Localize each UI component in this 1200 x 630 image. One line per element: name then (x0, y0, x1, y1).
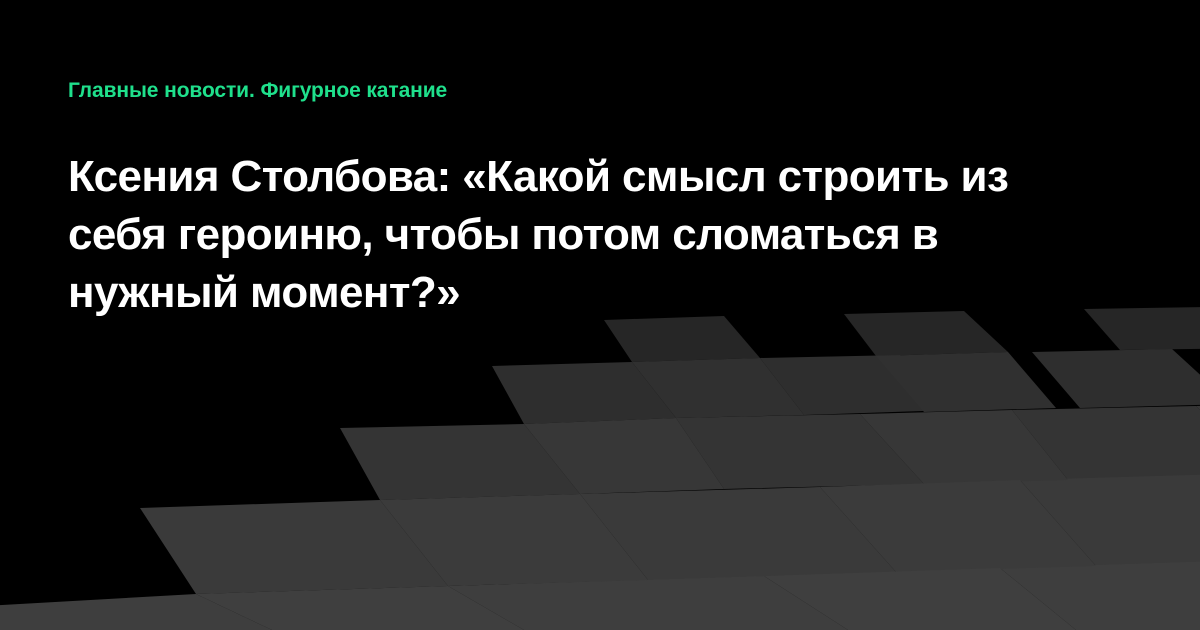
tile-row-interlock (215, 396, 1100, 630)
card-content: Главные новости. Фигурное катание Ксения… (68, 0, 1128, 322)
tile-row-near (0, 532, 1200, 630)
perspective-checkerboard-floor (0, 300, 1200, 630)
tile-row-2 (510, 342, 1200, 410)
tile-gaps (0, 300, 1200, 552)
checkerboard-grid (0, 300, 1200, 630)
tile-row-3 (355, 392, 1200, 476)
news-share-card: Главные новости. Фигурное катание Ксения… (0, 0, 1200, 630)
kicker-rubric: Главные новости. Фигурное катание (68, 78, 1128, 104)
page-title: Ксения Столбова: «Какой смысл строить из… (68, 148, 1088, 322)
tile-row-4 (160, 450, 1200, 558)
